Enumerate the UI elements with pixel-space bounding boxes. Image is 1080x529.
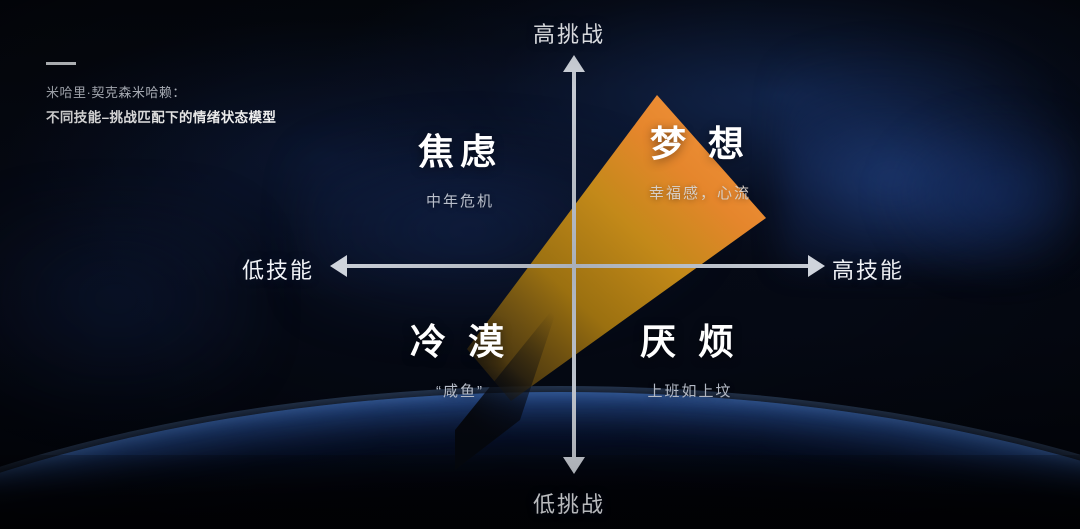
arrow-right-icon <box>808 255 825 277</box>
axis-label-high-challenge: 高挑战 <box>533 17 605 49</box>
axis-label-low-skill: 低技能 <box>242 253 314 285</box>
axis-label-high-skill: 高技能 <box>832 253 904 285</box>
nebula-glow-far-right <box>880 110 1080 280</box>
quadrant-subtitle: 中年危机 <box>360 190 560 211</box>
quadrant-title: 厌 烦 <box>590 322 790 362</box>
horizontal-axis-line <box>338 264 816 268</box>
title-rule-icon <box>46 62 76 65</box>
quadrant-apathy: 冷 漠 “咸鱼” <box>360 322 560 401</box>
title-author: 米哈里·契克森米哈赖： <box>46 83 276 103</box>
quadrant-subtitle: 幸福感，心流 <box>590 182 810 203</box>
arrow-left-icon <box>330 255 347 277</box>
quadrant-subtitle: 上班如上坟 <box>590 380 790 401</box>
arrow-up-icon <box>563 55 585 72</box>
quadrant-title: 梦 想 <box>590 124 810 164</box>
quadrant-bored: 厌 烦 上班如上坟 <box>590 322 790 401</box>
title-block: 米哈里·契克森米哈赖： 不同技能–挑战匹配下的情绪状态模型 <box>46 62 276 128</box>
arrow-down-icon <box>563 457 585 474</box>
axis-label-low-challenge: 低挑战 <box>533 487 605 519</box>
slide-canvas: 米哈里·契克森米哈赖： 不同技能–挑战匹配下的情绪状态模型 高挑战 低挑战 低技… <box>0 0 1080 529</box>
quadrant-subtitle: “咸鱼” <box>360 380 560 401</box>
quadrant-title: 焦虑 <box>360 132 560 172</box>
title-headline: 不同技能–挑战匹配下的情绪状态模型 <box>46 108 276 128</box>
quadrant-dream: 梦 想 幸福感，心流 <box>590 124 810 203</box>
quadrant-anxiety: 焦虑 中年危机 <box>360 132 560 211</box>
quadrant-title: 冷 漠 <box>360 322 560 362</box>
nebula-glow-left <box>0 200 260 420</box>
